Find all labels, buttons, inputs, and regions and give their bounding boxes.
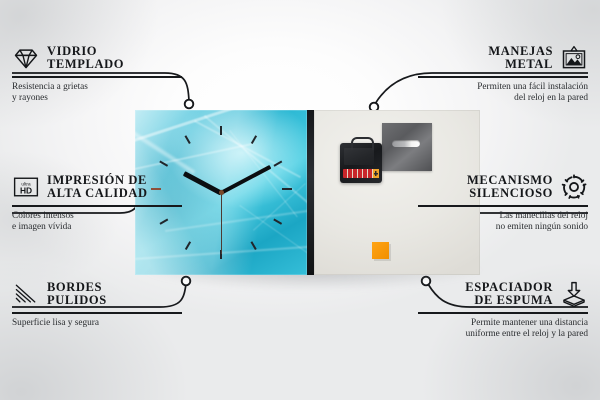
feature-divider (12, 205, 182, 207)
feature-title: VIDRIO TEMPLADO (47, 45, 124, 72)
feature-manejas-metal: MANEJAS METAL Permiten una fácil instala… (418, 44, 588, 104)
clock-tick (274, 219, 283, 225)
feature-header: ultra HD IMPRESIÓN DE ALTA CALIDAD (12, 173, 182, 201)
feature-divider (418, 76, 588, 78)
clock-minute-hand (220, 165, 271, 195)
clock-second-hand (221, 192, 222, 254)
clock-tick (251, 241, 257, 250)
svg-text:HD: HD (20, 186, 32, 196)
mechanism-panel (344, 148, 374, 165)
infographic-canvas: VIDRIO TEMPLADO Resistencia a grietas y … (0, 0, 600, 400)
feature-header: VIDRIO TEMPLADO (12, 44, 182, 72)
feature-description: Colores intensos e imagen vívida (12, 211, 182, 234)
feature-title: IMPRESIÓN DE ALTA CALIDAD (47, 174, 148, 201)
feature-description: Superficie lisa y segura (12, 318, 182, 329)
feature-title: MANEJAS METAL (488, 45, 553, 72)
feature-espaciador-espuma: ESPACIADOR DE ESPUMA Permite mantener un… (418, 280, 588, 340)
foam-spacer (372, 242, 389, 259)
clock-mechanism-box (340, 143, 382, 183)
feature-description: Permiten una fácil instalación del reloj… (418, 82, 588, 105)
clock-hour-hand (183, 172, 222, 196)
feature-bordes-pulidos: BORDES PULIDOS Superficie lisa y segura (12, 280, 182, 329)
feature-title: MECANISMO SILENCIOSO (467, 174, 553, 201)
clock-tick (220, 126, 222, 135)
feature-divider (418, 312, 588, 314)
clock-edge (307, 110, 314, 275)
feature-header: MECANISMO SILENCIOSO (418, 173, 588, 201)
gear-icon (560, 173, 588, 201)
metal-hanger-plate (382, 123, 432, 171)
feature-impresion-alta-calidad: ultra HD IMPRESIÓN DE ALTA CALIDAD Color… (12, 173, 182, 233)
feature-header: MANEJAS METAL (418, 44, 588, 72)
hanger-slot (392, 140, 420, 147)
feature-divider (12, 312, 182, 314)
foam-spacer-arrow-icon (560, 280, 588, 308)
clock-tick (282, 188, 292, 190)
ultra-hd-icon: ultra HD (12, 173, 40, 201)
clock-center-hub (219, 190, 224, 195)
picture-frame-hanger-icon (560, 44, 588, 72)
feature-vidrio-templado: VIDRIO TEMPLADO Resistencia a grietas y … (12, 44, 182, 104)
clock-tick (185, 135, 191, 144)
feature-description: Las manecillas del reloj no emiten ningú… (418, 211, 588, 234)
feature-header: ESPACIADOR DE ESPUMA (418, 280, 588, 308)
clock-tick (185, 241, 191, 250)
polished-edges-icon (12, 280, 40, 308)
battery (343, 169, 379, 178)
feature-divider (12, 76, 182, 78)
battery-plus-terminal (374, 170, 378, 177)
connector-dot-vidrio (185, 100, 194, 109)
feature-title: BORDES PULIDOS (47, 281, 107, 308)
feature-header: BORDES PULIDOS (12, 280, 182, 308)
feature-title: ESPACIADOR DE ESPUMA (465, 281, 553, 308)
feature-description: Permite mantener una distancia uniforme … (418, 318, 588, 341)
clock-tick (251, 135, 257, 144)
feature-description: Resistencia a grietas y rayones (12, 82, 182, 105)
feature-divider (418, 205, 588, 207)
diamond-icon (12, 44, 40, 72)
feature-mecanismo-silencioso: MECANISMO SILENCIOSO Las manecillas del … (418, 173, 588, 233)
